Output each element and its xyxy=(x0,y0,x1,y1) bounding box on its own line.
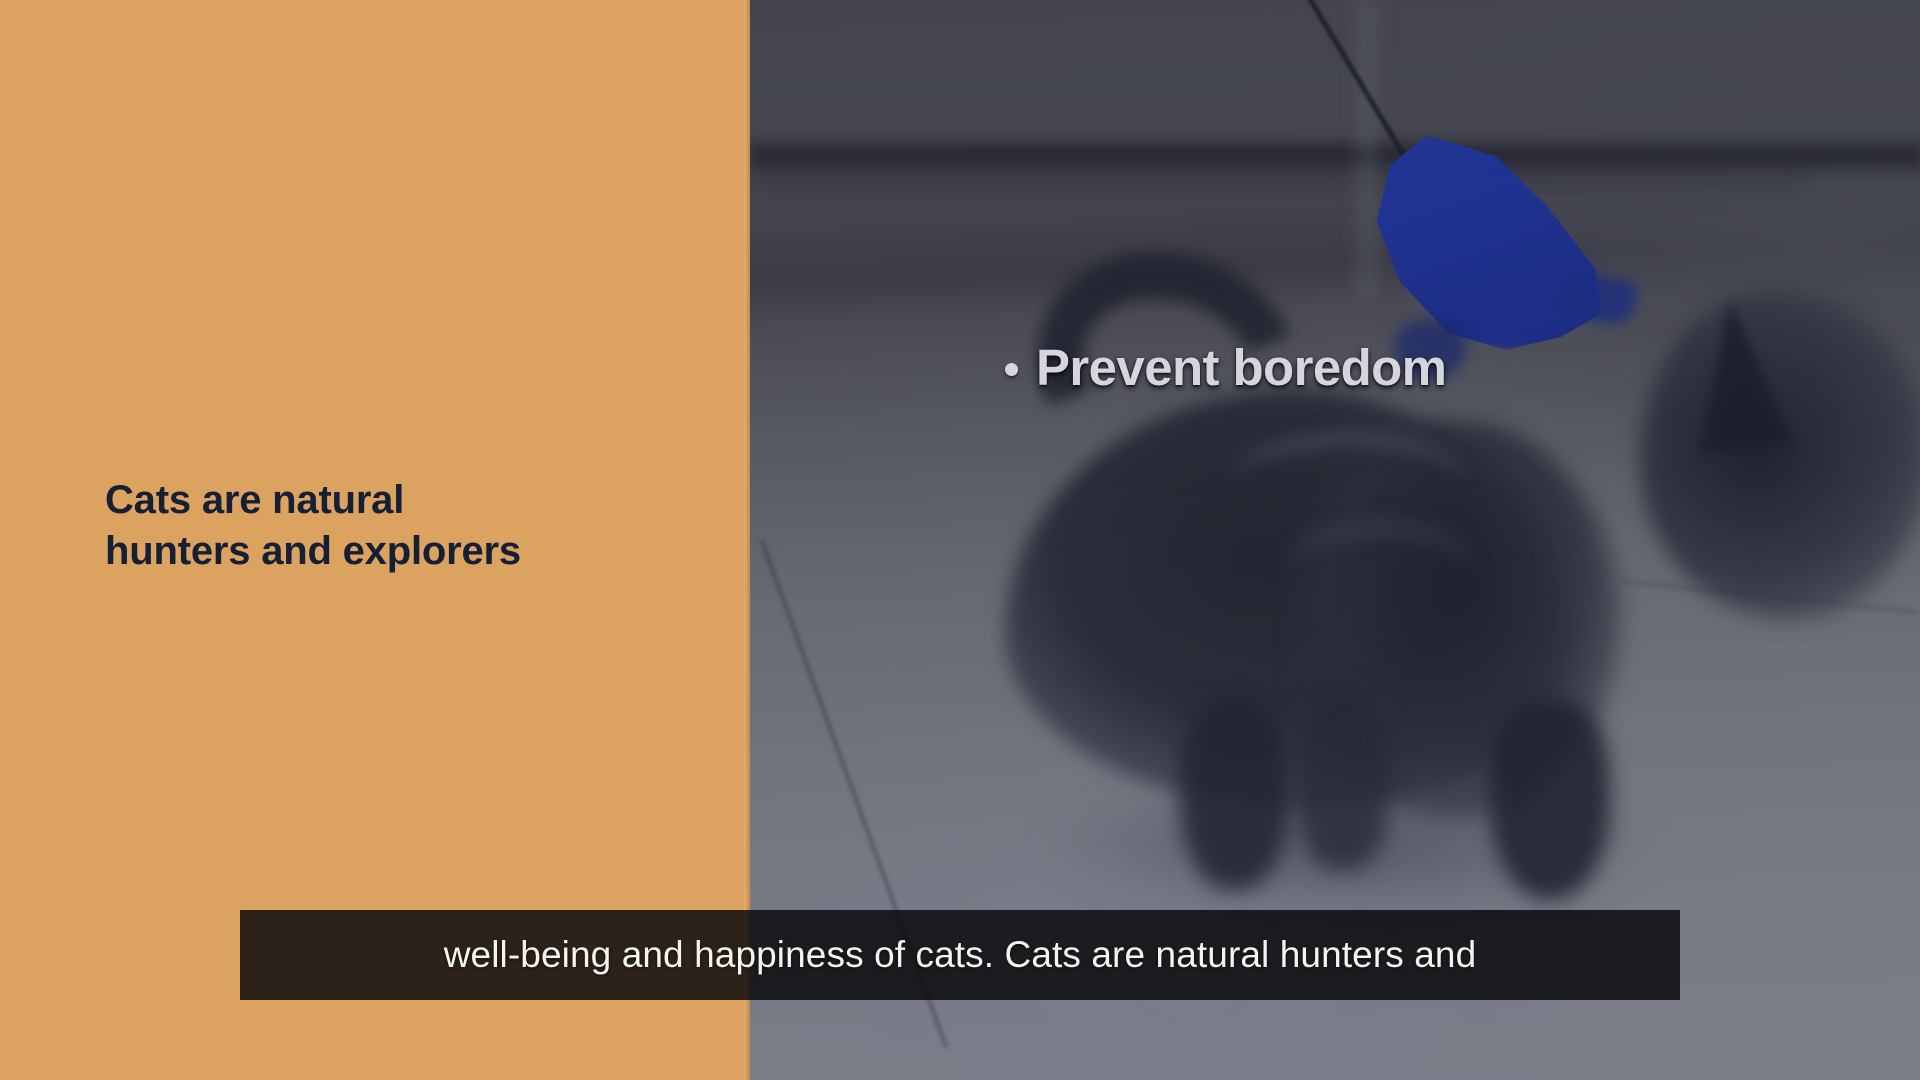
bullet-dot-icon xyxy=(1005,363,1018,376)
page-title: Cats are natural hunters and explorers xyxy=(105,475,705,577)
bullet-label: Prevent boredom xyxy=(1036,338,1446,397)
bullet-item: Prevent boredom xyxy=(1005,338,1446,397)
subtitle-bar: well-being and happiness of cats. Cats a… xyxy=(240,910,1680,1000)
wall-seam xyxy=(1352,0,1382,300)
cat-leg xyxy=(1180,700,1290,890)
wall-baseboard-shadow xyxy=(750,168,1810,196)
cat-leg xyxy=(1490,700,1610,900)
video-slide-stage: Prevent boredom Cats are natural hunters… xyxy=(0,0,1920,1080)
subtitle-text: well-being and happiness of cats. Cats a… xyxy=(444,934,1477,976)
cat-ear xyxy=(1682,295,1793,454)
cat-leg xyxy=(1295,690,1390,870)
cat-stripe xyxy=(1280,520,1480,640)
